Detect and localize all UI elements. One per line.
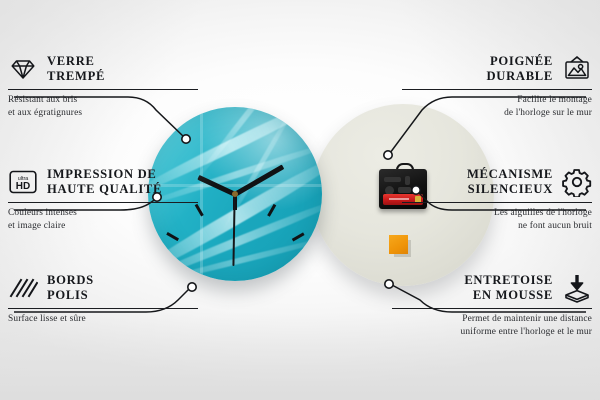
divider: [8, 202, 198, 203]
diamond-icon: [8, 54, 38, 84]
feature-header: POIGNÉE DURABLE: [402, 54, 592, 85]
divider: [8, 308, 198, 309]
divider: [402, 202, 592, 203]
hour-tick: [298, 271, 314, 274]
feature-header: ENTRETOISE EN MOUSSE: [392, 273, 592, 304]
badge-main-text: HD: [16, 181, 30, 192]
feature-print-quality: ultra HD IMPRESSION DE HAUTE QUALITÉ Cou…: [8, 167, 198, 233]
product-infographic: VERRE TREMPÉ Résistant aux bris et aux é…: [0, 0, 600, 400]
hanging-picture-icon: [562, 54, 592, 84]
feature-description: Permet de maintenir une distance uniform…: [392, 313, 592, 340]
feature-title: IMPRESSION DE HAUTE QUALITÉ: [47, 167, 162, 198]
divider: [402, 89, 592, 90]
feature-description: Surface lisse et sûre: [8, 313, 198, 326]
gear-icon: [562, 167, 592, 197]
feature-description: Couleurs intenses et image claire: [8, 207, 198, 234]
second-hand: [233, 194, 236, 266]
feature-title: MÉCANISME SILENCIEUX: [467, 167, 553, 198]
press-down-pad-icon: [562, 273, 592, 303]
foam-spacer-pad: [389, 235, 408, 254]
feature-title: BORDS POLIS: [47, 273, 94, 304]
feature-description: Résistant aux bris et aux égratignures: [8, 94, 198, 121]
hands-center-cap: [232, 191, 238, 197]
feature-foam-spacer: ENTRETOISE EN MOUSSE Permet de maintenir…: [392, 273, 592, 339]
hour-tick: [166, 232, 179, 241]
feature-title: ENTRETOISE EN MOUSSE: [464, 273, 553, 304]
feature-tempered-glass: VERRE TREMPÉ Résistant aux bris et aux é…: [8, 54, 198, 120]
divider: [8, 89, 198, 90]
feature-description: Facilite le montage de l'horloge sur le …: [402, 94, 592, 121]
glass-reflection-band: [200, 107, 203, 281]
feature-header: ultra HD IMPRESSION DE HAUTE QUALITÉ: [8, 167, 198, 198]
mechanism-detail: [384, 177, 401, 182]
feature-durable-handle: POIGNÉE DURABLE Facilite le montage de l…: [402, 54, 592, 120]
divider: [392, 308, 592, 309]
feature-silent-mechanism: MÉCANISME SILENCIEUX Les aiguilles de l'…: [402, 167, 592, 233]
feature-polished-edges: BORDS POLIS Surface lisse et sûre: [8, 273, 198, 326]
ultra-hd-badge-icon: ultra HD: [8, 167, 38, 197]
feature-title: VERRE TREMPÉ: [47, 54, 105, 85]
feature-header: MÉCANISME SILENCIEUX: [402, 167, 592, 198]
feature-description: Les aiguilles de l'horloge ne font aucun…: [402, 207, 592, 234]
feature-title: POIGNÉE DURABLE: [487, 54, 553, 85]
feature-header: VERRE TREMPÉ: [8, 54, 198, 85]
diagonal-lines-icon: [8, 273, 38, 303]
hour-tick: [292, 232, 305, 241]
feature-header: BORDS POLIS: [8, 273, 198, 304]
